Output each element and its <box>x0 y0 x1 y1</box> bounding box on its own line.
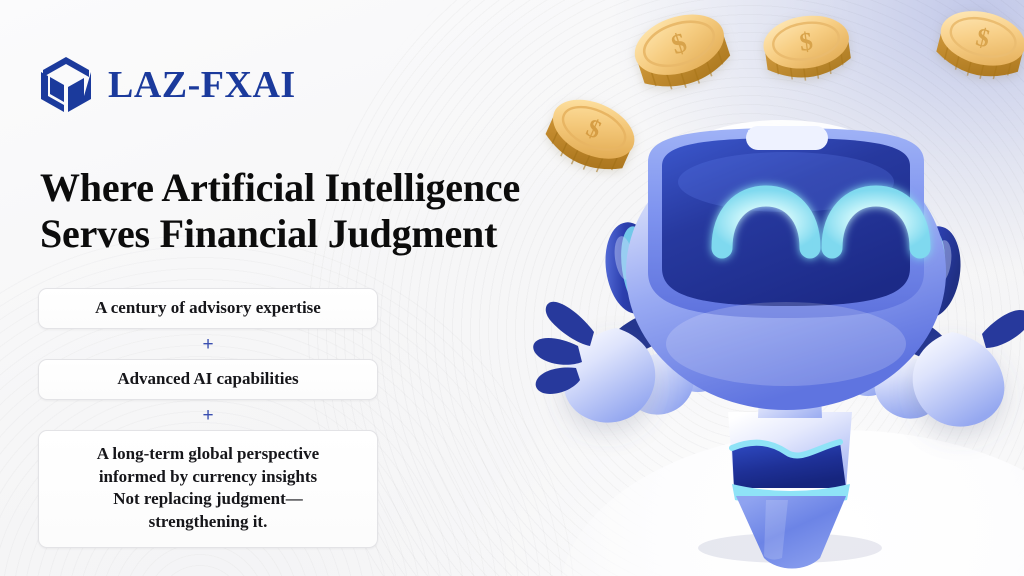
headline-line-2: Serves Financial Judgment <box>40 211 640 257</box>
value-pill-global-perspective: A long-term global perspective informed … <box>38 430 378 548</box>
dollar-coin-4: $ <box>928 0 1024 107</box>
plus-separator-2: + <box>38 400 378 430</box>
headline-line-1: Where Artificial Intelligence <box>40 165 520 210</box>
value-pill-line-3: Not replacing judgment— <box>53 488 363 511</box>
dollar-coin-1: $ <box>625 4 743 119</box>
value-pill-advisory-expertise: A century of advisory expertise <box>38 288 378 329</box>
plus-separator-1: + <box>38 329 378 359</box>
brand-logo[interactable]: LAZ-FXAI <box>38 55 296 115</box>
dollar-coin-3: $ <box>756 6 860 109</box>
hex-cube-icon <box>38 55 94 115</box>
robot-head <box>626 120 946 410</box>
page-title: Where Artificial Intelligence Serves Fin… <box>40 165 640 258</box>
brand-name: LAZ-FXAI <box>108 66 296 104</box>
value-pill-line-2: informed by currency insights <box>53 466 363 489</box>
value-pill-ai-capabilities: Advanced AI capabilities <box>38 359 378 400</box>
value-pill-line-4: strengthening it. <box>53 511 363 534</box>
hero-banner: $ $ <box>0 0 1024 576</box>
value-proposition-stack: A century of advisory expertise + Advanc… <box>38 288 378 548</box>
value-pill-line-1: A long-term global perspective <box>53 443 363 466</box>
